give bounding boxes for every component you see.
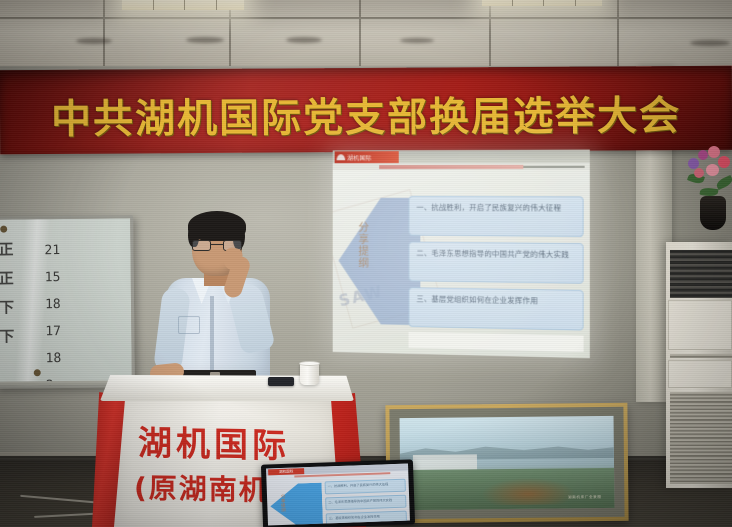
ceiling-tile [618, 0, 732, 18]
flower-bloom [718, 156, 730, 168]
ceiling-tile [360, 18, 490, 68]
whiteboard-number: 18 [45, 345, 85, 372]
slide-body: SAW 分享提纲 一、抗战胜利，开启了民族复兴的伟大征程 二、毛泽东思想指导的中… [333, 170, 590, 358]
laptop-slide-chevron [270, 483, 324, 526]
presenter-laptop[interactable]: 湖机国际 分享提纲 一、抗战胜利，开启了民族复兴的伟大征程 二、毛泽东思想指导的… [261, 459, 415, 527]
paper-cup[interactable] [300, 363, 319, 385]
ceiling-vent [286, 37, 322, 43]
slide-logo: 湖机国际 [335, 151, 399, 163]
whiteboard-number: 17 [45, 318, 85, 345]
ceiling-tile [230, 0, 360, 18]
whiteboard-tally-mark: 正 [0, 264, 37, 293]
laptop-slide-bullet: 一、抗战胜利，开启了民族复兴的伟大征程 [325, 479, 406, 495]
painting-caption: 湖南机床厂全景图 [568, 495, 602, 500]
podium-company-name: 湖机国际 [138, 416, 290, 468]
whiteboard-number: 18 [45, 291, 85, 318]
laptop-slide-logo: 湖机国际 [268, 468, 304, 475]
painting-buildings [413, 454, 477, 469]
company-logo-icon [337, 154, 346, 160]
event-banner-text: 中共湖机国际党支部换届选举大会 [0, 83, 732, 145]
painting-autumn-trees [481, 477, 575, 506]
glasses-bridge [211, 244, 223, 245]
ceiling-tile [104, 18, 230, 68]
light-tube [122, 0, 154, 10]
light-tube [217, 0, 244, 10]
flower-bloom [706, 164, 719, 176]
flower-bloom [694, 168, 704, 178]
slide-accent-rule [379, 165, 523, 169]
ceiling-tile [490, 18, 618, 68]
ceiling-vent [186, 37, 224, 43]
event-banner: 中共湖机国际党支部换届选举大会 [0, 66, 732, 154]
ceiling-tile [230, 18, 360, 68]
speaker-person [152, 212, 280, 387]
slide-bullet-item: 二、毛泽东思想指导的中国共产党的伟大实践 [409, 242, 584, 284]
laptop-slide-bullet: 二、毛泽东思想指导的中国共产党的伟大实践 [325, 495, 406, 511]
slide-bullet-item: 三、基层党组织如何在企业发挥作用 [409, 287, 584, 330]
whiteboard: 正 正 下 下 21 15 18 17 18 2 [0, 215, 135, 388]
speaker-shirt-placket [210, 296, 214, 370]
slide-footer-bar [409, 332, 584, 352]
slide-bullet-item: 一、抗战胜利，开启了民族复兴的伟大征程 [409, 196, 584, 237]
ceiling-vent [400, 38, 434, 43]
laptop-slide-bullet: 三、基层党组织如何在企业发挥作用 [326, 511, 407, 526]
whiteboard-tally-mark: 下 [0, 293, 37, 322]
light-tube [513, 0, 544, 6]
light-tube [185, 0, 217, 10]
ac-front-panel [668, 300, 732, 350]
slide-logo-text: 湖机国际 [347, 153, 371, 162]
whiteboard-tally-column: 正 正 下 下 [0, 235, 38, 351]
projected-slide: SAW 分享提纲 一、抗战胜利，开启了民族复兴的伟大征程 二、毛泽东思想指导的中… [333, 150, 590, 359]
laptop-screen: 湖机国际 分享提纲 一、抗战胜利，开启了民族复兴的伟大征程 二、毛泽东思想指导的… [266, 464, 410, 526]
ceiling-light-panel [122, 0, 244, 10]
ceiling-light-panel [482, 0, 602, 6]
whiteboard-number: 21 [44, 237, 84, 264]
ac-front-panel [668, 360, 732, 388]
conference-room-photo: 中共湖机国际党支部换届选举大会 SAW 分享提纲 一、抗战胜利，开启了民族复兴的… [0, 0, 732, 527]
ac-top-grill [670, 250, 732, 298]
whiteboard-magnet [34, 369, 41, 376]
painting-canvas: 湖南机床厂全景图 [400, 416, 615, 510]
ceiling [0, 0, 732, 72]
ac-divider-grill [670, 354, 732, 358]
laptop-slide-vertical-label: 分享提纲 [279, 494, 286, 512]
ceiling-tile [0, 0, 104, 18]
whiteboard-magnet [0, 226, 7, 233]
light-tube [482, 0, 513, 6]
light-tube [154, 0, 186, 10]
whiteboard-tally-mark: 正 [0, 235, 37, 264]
ceiling-tile [360, 0, 490, 18]
mobile-phone[interactable] [268, 377, 294, 386]
whiteboard-tally-mark: 下 [0, 322, 38, 351]
light-tube [576, 0, 602, 6]
flower-bloom [708, 146, 720, 158]
flower-leaf [715, 175, 732, 190]
glasses-lens [192, 240, 211, 251]
paper-cup-rim [299, 361, 320, 366]
slide-bullet-list: 一、抗战胜利，开启了民族复兴的伟大征程 二、毛泽东思想指导的中国共产党的伟大实践… [409, 196, 584, 337]
floor-air-conditioner[interactable] [666, 242, 732, 488]
flower-bouquet [686, 144, 732, 204]
slide-accent-rule-secondary [523, 166, 584, 168]
flower-bloom [698, 150, 708, 160]
framed-painting: 湖南机床厂全景图 [385, 403, 628, 524]
ac-bottom-grill [670, 392, 732, 484]
ceiling-vent [690, 40, 730, 46]
painting-mat: 湖南机床厂全景图 [389, 407, 624, 519]
flower-leaf [700, 187, 719, 197]
whiteboard-number: 15 [45, 264, 85, 291]
light-tube [544, 0, 575, 6]
speaker-shirt-pocket [178, 316, 200, 334]
slide-vertical-label: 分享提纲 [354, 221, 370, 269]
whiteboard-number-column: 21 15 18 17 18 2 [44, 237, 86, 389]
ceiling-vent [76, 38, 112, 44]
